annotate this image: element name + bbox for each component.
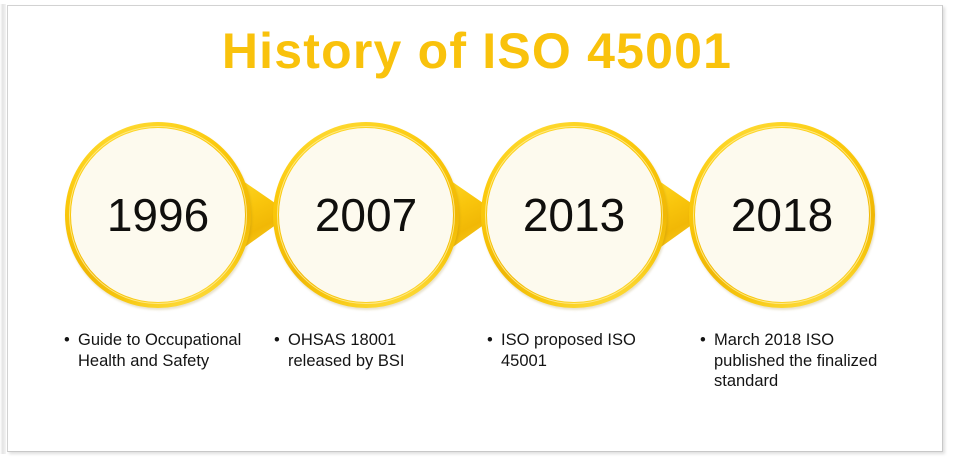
bullet-dot-icon: • <box>274 330 280 351</box>
timeline-year-label: 2007 <box>273 122 459 308</box>
timeline-year-label: 2018 <box>689 122 875 308</box>
timeline-caption-2007: •OHSAS 18001 released by BSI <box>272 330 462 371</box>
timeline: 1996•Guide to Occupational Health and Sa… <box>0 0 954 460</box>
bullet-item: •March 2018 ISO published the finalized … <box>698 330 888 392</box>
bullet-dot-icon: • <box>487 330 493 351</box>
timeline-year-label: 1996 <box>65 122 251 308</box>
timeline-caption-1996: •Guide to Occupational Health and Safety <box>62 330 252 371</box>
infographic-slide: History of ISO 45001 1996•Guide to Occup… <box>0 0 954 460</box>
timeline-caption-2013: •ISO proposed ISO 45001 <box>485 330 675 371</box>
bullet-text: OHSAS 18001 released by BSI <box>288 331 404 370</box>
bullet-item: •OHSAS 18001 released by BSI <box>272 330 462 371</box>
timeline-node-2018[interactable]: 2018 <box>689 122 875 308</box>
timeline-node-2007[interactable]: 2007 <box>273 122 459 308</box>
bullet-text: Guide to Occupational Health and Safety <box>78 331 241 370</box>
bullet-text: March 2018 ISO published the finalized s… <box>714 331 877 390</box>
timeline-caption-2018: •March 2018 ISO published the finalized … <box>698 330 888 392</box>
timeline-node-1996[interactable]: 1996 <box>65 122 251 308</box>
bullet-item: •Guide to Occupational Health and Safety <box>62 330 252 371</box>
bullet-item: •ISO proposed ISO 45001 <box>485 330 675 371</box>
bullet-dot-icon: • <box>64 330 70 351</box>
bullet-dot-icon: • <box>700 330 706 351</box>
timeline-year-label: 2013 <box>481 122 667 308</box>
timeline-node-2013[interactable]: 2013 <box>481 122 667 308</box>
bullet-text: ISO proposed ISO 45001 <box>501 331 636 370</box>
